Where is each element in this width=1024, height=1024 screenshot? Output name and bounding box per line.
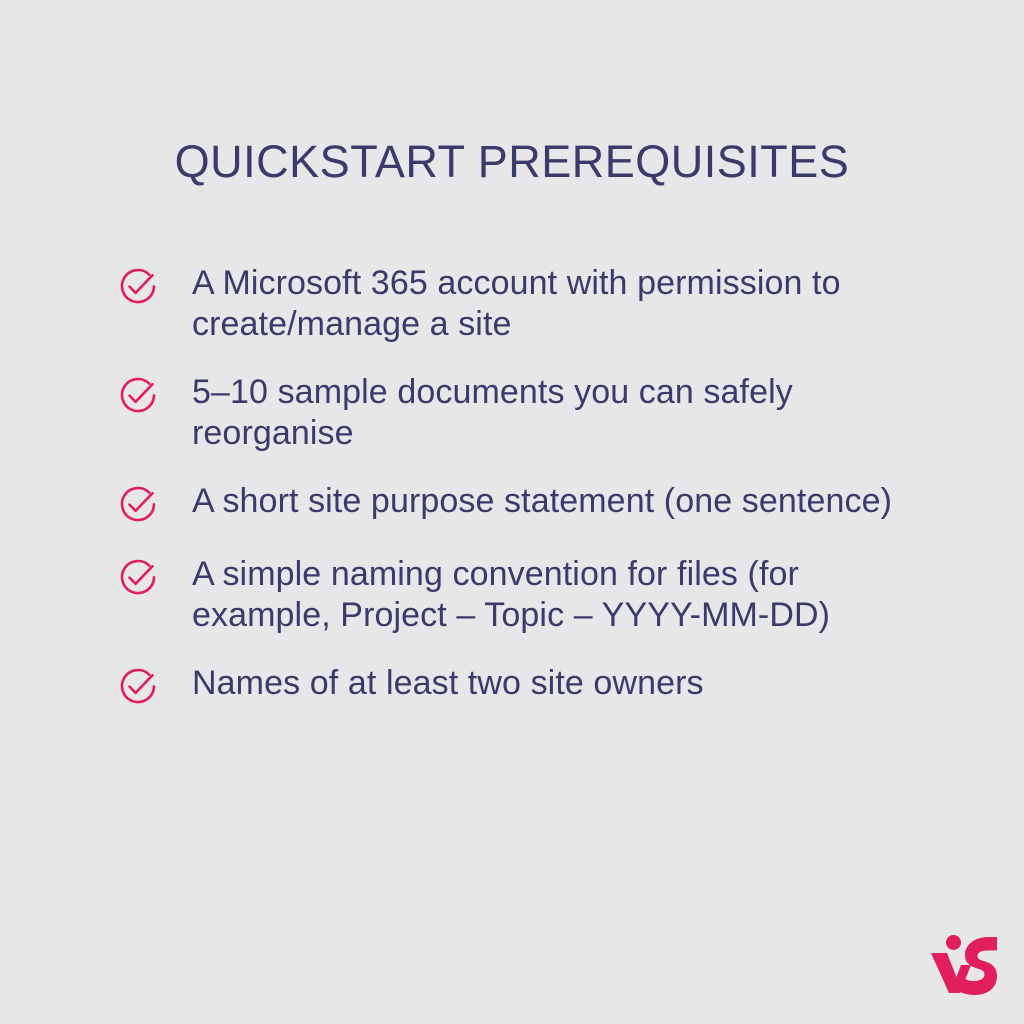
list-item-label: 5–10 sample documents you can safely reo…: [192, 372, 922, 454]
list-item: A Microsoft 365 account with permission …: [116, 263, 936, 345]
slide-canvas: QUICKSTART PREREQUISITES A Microsoft 365…: [0, 0, 1024, 1024]
check-circle-icon: [116, 556, 160, 600]
vs-monogram-logo: [927, 927, 999, 999]
list-item: Names of at least two site owners: [116, 663, 936, 709]
list-item: A simple naming convention for files (fo…: [116, 554, 936, 636]
list-item: A short site purpose statement (one sent…: [116, 481, 936, 527]
list-item-label: A simple naming convention for files (fo…: [192, 554, 922, 636]
page-title: QUICKSTART PREREQUISITES: [0, 133, 1024, 191]
check-circle-icon: [116, 665, 160, 709]
check-circle-icon: [116, 483, 160, 527]
list-item-label: A Microsoft 365 account with permission …: [192, 263, 922, 345]
check-circle-icon: [116, 265, 160, 309]
prerequisites-checklist: A Microsoft 365 account with permission …: [116, 263, 936, 709]
list-item-label: Names of at least two site owners: [192, 663, 704, 704]
check-circle-icon: [116, 374, 160, 418]
list-item: 5–10 sample documents you can safely reo…: [116, 372, 936, 454]
list-item-label: A short site purpose statement (one sent…: [192, 481, 892, 522]
